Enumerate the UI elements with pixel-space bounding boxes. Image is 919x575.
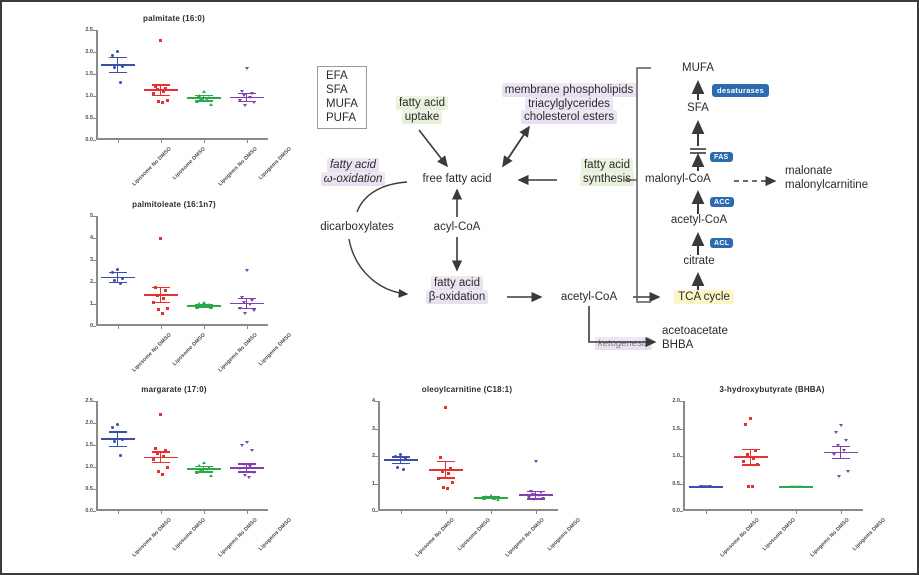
data-point — [243, 104, 247, 107]
data-point — [161, 473, 164, 476]
data-point — [444, 406, 447, 409]
y-axis-tick — [93, 326, 96, 327]
data-point — [250, 299, 254, 302]
data-point — [247, 476, 251, 479]
x-axis-tick — [204, 326, 205, 329]
x-axis-label: Lipogems No DMSO — [809, 517, 850, 558]
error-bar-cap — [195, 306, 213, 307]
plot-area: 012345Liposome No DMSOLiposome DMSOLipog… — [96, 216, 268, 326]
y-axis-tick — [93, 216, 96, 217]
data-point — [116, 423, 119, 426]
data-point — [250, 449, 254, 452]
x-axis-label: Liposome DMSO — [171, 146, 206, 181]
data-point — [166, 99, 169, 102]
data-point — [245, 269, 249, 272]
de-novo-bracket — [637, 68, 651, 302]
data-point — [166, 307, 169, 310]
data-point — [245, 67, 249, 70]
y-axis-tick — [93, 52, 96, 53]
x-axis-label: Liposome DMSO — [761, 517, 796, 552]
chart-palmitoleate: palmitoleate (16:1n7) 012345Liposome No … — [64, 200, 284, 380]
plot-area: 01234Liposome No DMSOLiposome DMSOLipoge… — [378, 401, 558, 511]
data-point — [751, 485, 754, 488]
error-bar-cap — [109, 446, 127, 447]
data-point — [159, 39, 162, 42]
error-bar-cap — [152, 462, 170, 463]
chart-title: 3-hydroxybutyrate (BHBA) — [647, 385, 897, 394]
y-axis-tick — [93, 118, 96, 119]
data-point — [154, 447, 157, 450]
x-axis — [96, 138, 268, 140]
error-bar-cap — [392, 456, 410, 457]
data-point — [111, 426, 114, 429]
data-point — [156, 452, 159, 455]
data-point — [447, 472, 450, 475]
y-axis-tick — [375, 456, 378, 457]
data-point — [442, 486, 445, 489]
error-bar-cap — [742, 464, 760, 465]
chart-oleoylcarnitine: oleoylcarnitine (C18:1) 01234Liposome No… — [342, 385, 592, 565]
chart-palmitate: palmitate (16:0) 0.00.51.01.52.02.5Lipos… — [64, 14, 284, 194]
y-axis — [96, 30, 98, 140]
error-bar-cap — [152, 84, 170, 85]
data-point — [161, 312, 164, 315]
error-bar-cap — [238, 298, 256, 299]
data-point — [245, 441, 249, 444]
x-axis-label: Lipogems DMSO — [851, 517, 886, 552]
y-axis — [683, 401, 685, 511]
x-axis-tick — [118, 140, 119, 143]
x-axis-label: Liposome No DMSO — [719, 517, 760, 558]
data-point — [240, 444, 244, 447]
error-bar-cap — [527, 498, 545, 499]
chart-title: palmitoleate (16:1n7) — [64, 200, 284, 209]
x-axis-label: Liposome No DMSO — [131, 517, 172, 558]
arrow-dicarboxylates-to-beta-oxidation — [349, 239, 407, 294]
plot-area: 0.00.51.01.52.0Liposome No DMSOLiposome … — [683, 401, 863, 511]
x-axis-tick — [706, 511, 707, 514]
error-bar-cap — [195, 304, 213, 305]
y-axis-tick — [93, 401, 96, 402]
chart-margarate: margarate (17:0) 0.00.51.01.52.02.5Lipos… — [64, 385, 284, 565]
y-axis-tick — [375, 511, 378, 512]
x-axis — [378, 509, 558, 511]
data-point — [166, 466, 169, 469]
error-bar-cap — [392, 463, 410, 464]
data-point — [451, 481, 454, 484]
error-bar — [117, 432, 118, 447]
error-bar-cap — [527, 491, 545, 492]
y-axis-tick — [93, 304, 96, 305]
y-axis-tick — [93, 260, 96, 261]
y-axis-tick — [680, 484, 683, 485]
y-axis-tick — [93, 140, 96, 141]
x-axis-label: Liposome No DMSO — [131, 332, 172, 373]
data-point — [164, 289, 167, 292]
x-axis-tick — [491, 511, 492, 514]
x-axis-label: Lipogems DMSO — [546, 517, 581, 552]
figure-panel: palmitate (16:0) 0.00.51.01.52.02.5Lipos… — [0, 0, 919, 575]
data-point — [157, 308, 160, 311]
data-point — [157, 100, 160, 103]
error-bar-cap — [238, 463, 256, 464]
data-point — [116, 268, 119, 271]
data-point — [446, 487, 449, 490]
x-axis-label: Lipogems DMSO — [257, 517, 292, 552]
x-axis-tick — [247, 140, 248, 143]
data-point — [837, 475, 841, 478]
x-axis-label: Liposome No DMSO — [414, 517, 455, 558]
y-axis — [96, 401, 98, 511]
error-bar-cap — [832, 458, 850, 459]
x-axis-label: Liposome DMSO — [171, 332, 206, 367]
arrow-uptake-to-ffa — [419, 130, 447, 166]
y-axis — [378, 401, 380, 511]
error-bar-cap — [238, 471, 256, 472]
x-axis-tick — [161, 140, 162, 143]
data-point — [202, 461, 206, 464]
error-bar-cap — [742, 449, 760, 450]
y-axis-tick — [93, 489, 96, 490]
data-point — [162, 297, 165, 300]
error-bar-cap — [832, 446, 850, 447]
data-point — [159, 413, 162, 416]
x-axis-label: Liposome No DMSO — [131, 146, 172, 187]
y-axis-tick — [93, 423, 96, 424]
y-axis-tick — [93, 467, 96, 468]
chart-title: margarate (17:0) — [64, 385, 284, 394]
x-axis-label: Liposome DMSO — [171, 517, 206, 552]
error-bar — [117, 57, 118, 72]
x-axis-tick — [161, 511, 162, 514]
x-axis-tick — [204, 511, 205, 514]
y-axis-tick — [93, 282, 96, 283]
data-point — [209, 474, 213, 477]
data-point — [119, 81, 122, 84]
data-point — [844, 439, 848, 442]
data-point — [159, 237, 162, 240]
x-axis-label: Lipogems No DMSO — [217, 517, 258, 558]
error-bar-cap — [152, 451, 170, 452]
data-point — [839, 424, 843, 427]
data-point — [157, 470, 160, 473]
y-axis-tick — [680, 511, 683, 512]
data-point — [744, 423, 747, 426]
error-bar-cap — [109, 272, 127, 273]
x-axis-label: Lipogems No DMSO — [504, 517, 545, 558]
x-axis-tick — [796, 511, 797, 514]
x-axis-tick — [247, 511, 248, 514]
x-axis-tick — [204, 140, 205, 143]
mean-line — [689, 486, 723, 488]
data-point — [747, 485, 750, 488]
data-point — [202, 90, 206, 93]
x-axis-tick — [247, 326, 248, 329]
y-axis — [96, 216, 98, 326]
data-point — [742, 460, 745, 463]
data-point — [243, 312, 247, 315]
data-point — [846, 470, 850, 473]
pathway-connectors: malonate (dashed) --> — [307, 54, 915, 374]
x-axis-label: Lipogems DMSO — [257, 146, 292, 181]
x-axis — [96, 509, 268, 511]
data-point — [252, 309, 256, 312]
y-axis-tick — [375, 484, 378, 485]
y-axis-tick — [93, 511, 96, 512]
data-point — [113, 440, 116, 443]
y-axis-tick — [680, 456, 683, 457]
x-axis-label: Lipogems No DMSO — [217, 146, 258, 187]
x-axis-tick — [401, 511, 402, 514]
error-bar-cap — [109, 57, 127, 58]
error-bar — [445, 462, 446, 479]
error-bar-cap — [482, 498, 500, 499]
data-point — [396, 466, 399, 469]
error-bar-cap — [195, 100, 213, 101]
error-bar-cap — [195, 466, 213, 467]
data-point — [402, 468, 405, 471]
y-axis-tick — [375, 401, 378, 402]
data-point — [832, 453, 836, 456]
error-bar-cap — [152, 95, 170, 96]
x-axis-label: Lipogems No DMSO — [217, 332, 258, 373]
plot-area: 0.00.51.01.52.02.5Liposome No DMSOLiposo… — [96, 30, 268, 140]
y-axis-tick — [680, 429, 683, 430]
data-point — [209, 103, 213, 106]
x-axis-tick — [161, 326, 162, 329]
data-point — [119, 454, 122, 457]
x-axis-tick — [446, 511, 447, 514]
y-axis-tick — [93, 30, 96, 31]
data-point — [116, 50, 119, 53]
data-point — [161, 101, 164, 104]
error-bar-cap — [238, 93, 256, 94]
error-bar-cap — [152, 302, 170, 303]
chart-title: palmitate (16:0) — [64, 14, 284, 23]
fatty-acid-pathway-diagram: EFA SFA MUFA PUFA fatty acid uptake memb… — [307, 54, 915, 374]
y-axis-tick — [93, 445, 96, 446]
data-point — [834, 431, 838, 434]
x-axis — [683, 509, 863, 511]
x-axis-label: Lipogems DMSO — [257, 332, 292, 367]
arrow-ffa-to-omega-oxidation — [357, 182, 407, 212]
data-point — [534, 460, 538, 463]
x-axis-tick — [536, 511, 537, 514]
x-axis-tick — [118, 326, 119, 329]
error-bar — [840, 447, 841, 459]
arrow-acetylcoa-to-ketones — [589, 306, 655, 342]
chart-bhba: 3-hydroxybutyrate (BHBA) 0.00.51.01.52.0… — [647, 385, 897, 565]
mean-line — [779, 486, 813, 488]
y-axis-tick — [93, 74, 96, 75]
y-axis-tick — [680, 401, 683, 402]
error-bar — [750, 449, 751, 464]
data-point — [113, 66, 116, 69]
error-bar-cap — [109, 431, 127, 432]
y-axis-tick — [375, 429, 378, 430]
x-axis — [96, 324, 268, 326]
chart-title: oleoylcarnitine (C18:1) — [342, 385, 592, 394]
y-axis-tick — [93, 96, 96, 97]
x-axis-tick — [841, 511, 842, 514]
data-point — [749, 417, 752, 420]
error-bar-cap — [195, 95, 213, 96]
error-bar-cap — [109, 282, 127, 283]
error-bar-cap — [109, 72, 127, 73]
y-axis-tick — [93, 238, 96, 239]
error-bar — [160, 287, 161, 302]
error-bar-cap — [437, 477, 455, 478]
data-point — [121, 65, 124, 68]
x-axis-label: Liposome DMSO — [456, 517, 491, 552]
error-bar-cap — [152, 287, 170, 288]
x-axis-tick — [751, 511, 752, 514]
x-axis-tick — [118, 511, 119, 514]
arrow-membrane-to-ffa — [503, 127, 529, 166]
plot-area: 0.00.51.01.52.02.5Liposome No DMSOLiposo… — [96, 401, 268, 511]
error-bar-cap — [238, 308, 256, 309]
data-point — [439, 456, 442, 459]
error-bar-cap — [238, 101, 256, 102]
error-bar-cap — [437, 461, 455, 462]
error-bar-cap — [195, 471, 213, 472]
